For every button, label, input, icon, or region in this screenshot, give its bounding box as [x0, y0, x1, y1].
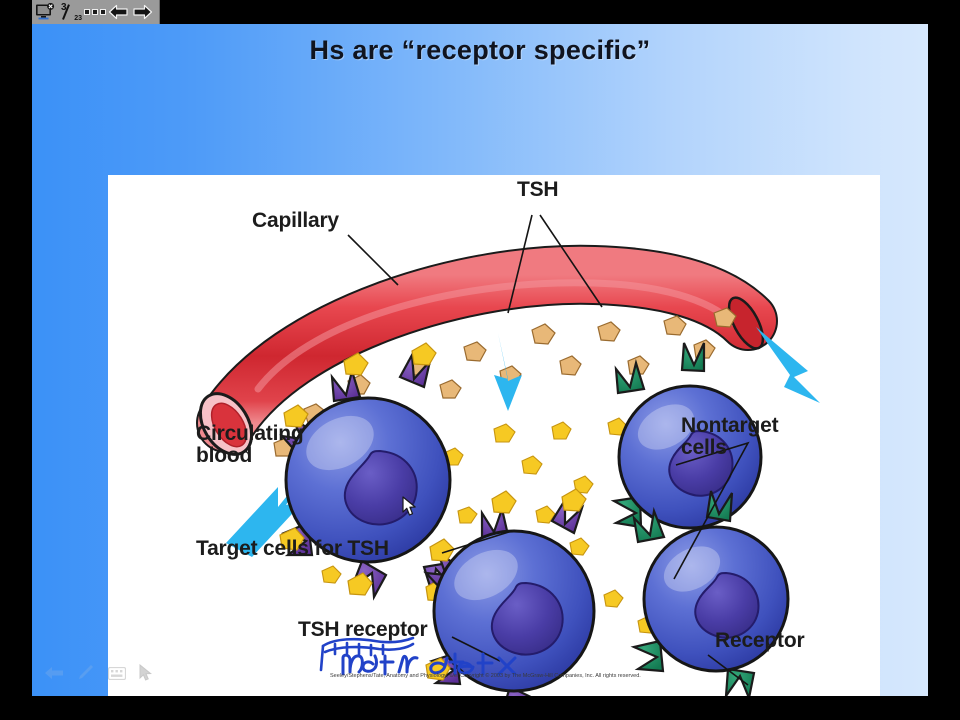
- presentation-toolbar: 3 23: [32, 0, 160, 25]
- slide-total: 23: [74, 15, 82, 22]
- page-title: Hs are “receptor specific”: [32, 35, 928, 66]
- screen: 3 23 Hs are “receptor specific”: [0, 0, 960, 720]
- slide-canvas[interactable]: Hs are “receptor specific”: [32, 24, 928, 696]
- monitor-close-icon[interactable]: [32, 0, 58, 24]
- label-tsh: TSH: [517, 179, 558, 201]
- label-nontarget-cells: Nontarget cells: [681, 415, 778, 459]
- label-capillary: Capillary: [252, 210, 339, 232]
- keyboard-icon[interactable]: [108, 667, 126, 680]
- label-receptor: Receptor: [715, 630, 804, 652]
- copyright-notice: Seeley/Stephens/Tate, Anatomy and Physio…: [330, 672, 660, 680]
- three-squares-icon[interactable]: [84, 0, 106, 24]
- ghost-player-controls[interactable]: [34, 650, 180, 696]
- capillary-leader-line: [348, 235, 398, 285]
- arrow-right-icon[interactable]: [130, 0, 154, 24]
- mouse-pointer-icon: [402, 496, 418, 523]
- arrow-left-icon[interactable]: [106, 0, 130, 24]
- pen-icon[interactable]: [77, 665, 95, 681]
- slide-counter: 3 23: [58, 0, 84, 24]
- pointer-icon[interactable]: [139, 664, 153, 682]
- label-target-cells: Target cells for TSH: [196, 538, 389, 560]
- handwritten-annotation: [313, 630, 543, 678]
- figure-panel: Capillary TSH Circulating blood Nontarge…: [108, 175, 880, 696]
- label-circulating-blood: Circulating blood: [196, 423, 303, 467]
- arrow-left-icon[interactable]: [44, 666, 64, 680]
